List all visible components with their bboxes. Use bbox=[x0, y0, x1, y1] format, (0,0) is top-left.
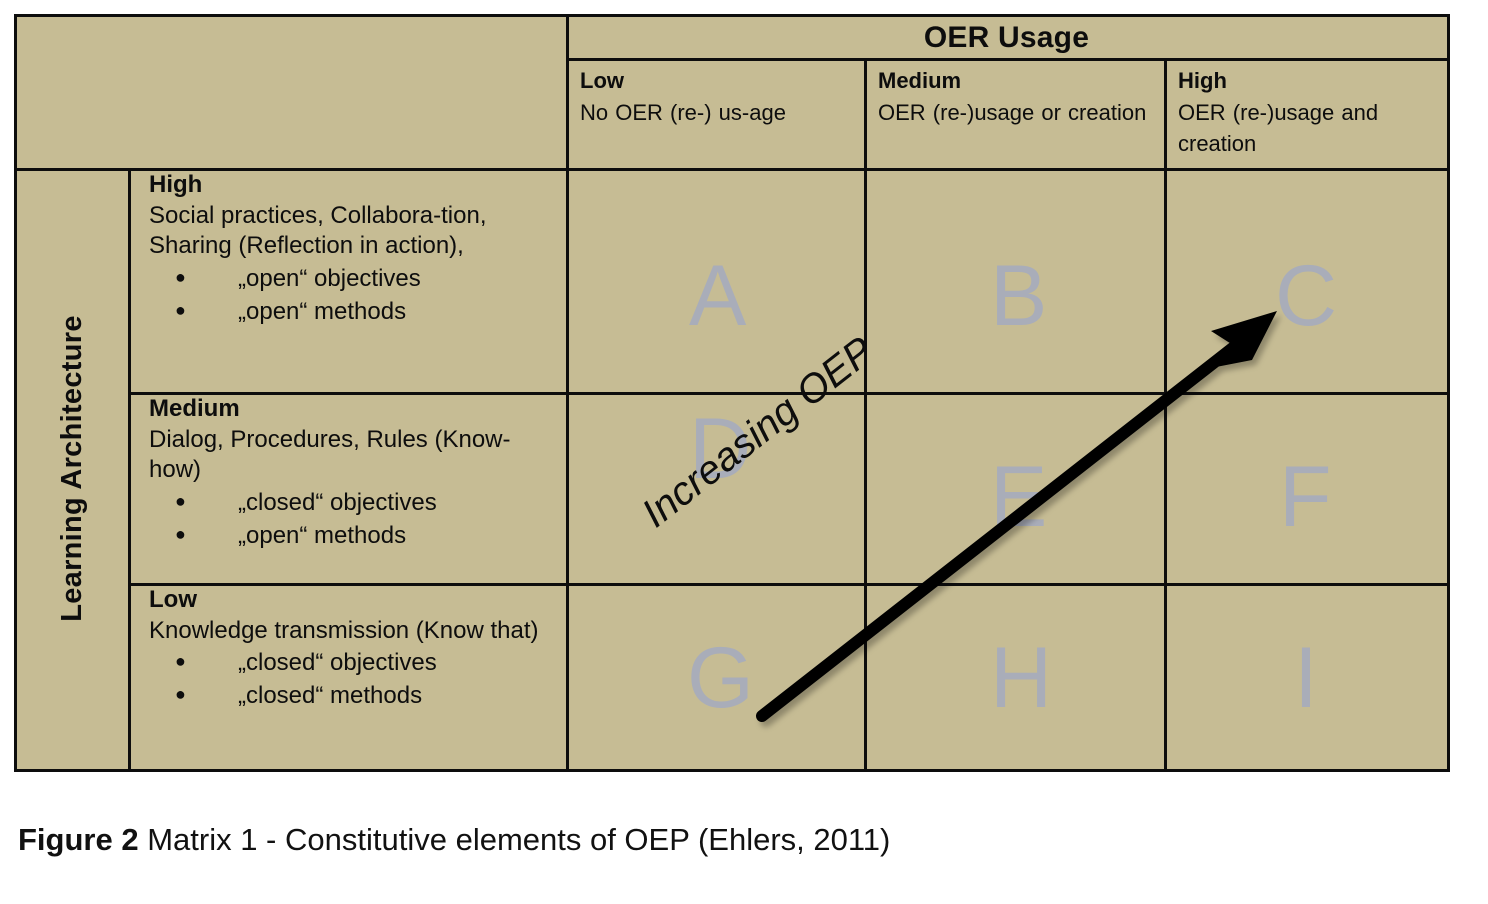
row-header-medium: Medium Dialog, Procedures, Rules (Know-h… bbox=[131, 392, 566, 552]
column-header-high: High OER (re-)usage and creation bbox=[1164, 61, 1450, 168]
list-item: ●„closed“ objectives bbox=[149, 488, 558, 519]
row-axis-title: Learning Architecture bbox=[56, 315, 89, 622]
bullet-text: „closed“ methods bbox=[238, 682, 422, 709]
column-header-medium: Medium OER (re-)usage or creation bbox=[864, 61, 1164, 168]
row-header-low-level: Low bbox=[149, 585, 558, 616]
row-header-medium-bullets: ●„closed“ objectives ●„open“ methods bbox=[149, 488, 558, 551]
matrix-cell-i: I bbox=[1294, 635, 1318, 721]
row-axis-title-cell: Learning Architecture bbox=[17, 168, 128, 769]
column-header-medium-description: OER (re-)usage or creation bbox=[878, 97, 1154, 129]
bullet-icon: ● bbox=[175, 521, 186, 547]
bullet-icon: ● bbox=[175, 264, 186, 290]
row-header-low: Low Knowledge transmission (Know that) ●… bbox=[131, 583, 566, 712]
bullet-text: „open“ methods bbox=[238, 522, 406, 549]
figure-caption-text: Matrix 1 - Constitutive elements of OEP … bbox=[139, 822, 891, 857]
column-header-high-description: OER (re-)usage and creation bbox=[1178, 97, 1440, 160]
list-item: ●„open“ methods bbox=[149, 521, 558, 552]
row-header-high-description: Social practices, Collabora-tion, Sharin… bbox=[149, 201, 558, 262]
row-header-low-bullets: ●„closed“ objectives ●„closed“ methods bbox=[149, 648, 558, 711]
bullet-icon: ● bbox=[175, 488, 186, 514]
column-header-high-level: High bbox=[1178, 65, 1440, 97]
bullet-icon: ● bbox=[175, 648, 186, 674]
matrix-cell-c: C bbox=[1275, 253, 1337, 339]
row-header-high: High Social practices, Collabora-tion, S… bbox=[131, 168, 566, 328]
list-item: ●„closed“ objectives bbox=[149, 648, 558, 679]
bullet-text: „closed“ objectives bbox=[238, 649, 437, 676]
matrix-cell-f: F bbox=[1279, 454, 1332, 540]
matrix-cell-a: A bbox=[689, 253, 746, 339]
column-header-low-level: Low bbox=[580, 65, 854, 97]
list-item: ●„open“ methods bbox=[149, 297, 558, 328]
matrix-cell-e: E bbox=[990, 454, 1047, 540]
figure-number: Figure 2 bbox=[18, 822, 139, 857]
bullet-text: „open“ methods bbox=[238, 298, 406, 325]
row-header-medium-level: Medium bbox=[149, 394, 558, 425]
column-header-low: Low No OER (re-) us-age bbox=[566, 61, 864, 168]
figure-caption: Figure 2 Matrix 1 - Constitutive element… bbox=[18, 822, 890, 858]
row-header-medium-description: Dialog, Procedures, Rules (Know-how) bbox=[149, 425, 558, 486]
list-item: ●„open“ objectives bbox=[149, 264, 558, 295]
column-axis-title: OER Usage bbox=[566, 17, 1447, 58]
figure-container: OER Usage Low No OER (re-) us-age Medium… bbox=[0, 0, 1488, 904]
bullet-icon: ● bbox=[175, 681, 186, 707]
bullet-text: „open“ objectives bbox=[238, 265, 421, 292]
oep-matrix-table: OER Usage Low No OER (re-) us-age Medium… bbox=[14, 14, 1450, 772]
list-item: ●„closed“ methods bbox=[149, 681, 558, 712]
row-header-high-bullets: ●„open“ objectives ●„open“ methods bbox=[149, 264, 558, 327]
column-header-medium-level: Medium bbox=[878, 65, 1154, 97]
row-header-low-description: Knowledge transmission (Know that) bbox=[149, 616, 558, 647]
bullet-text: „closed“ objectives bbox=[238, 489, 437, 516]
column-header-low-description: No OER (re-) us-age bbox=[580, 97, 854, 129]
row-header-high-level: High bbox=[149, 170, 558, 201]
bullet-icon: ● bbox=[175, 297, 186, 323]
matrix-cell-h: H bbox=[990, 635, 1052, 721]
matrix-cell-b: B bbox=[990, 253, 1047, 339]
matrix-cell-g: G bbox=[687, 635, 754, 721]
